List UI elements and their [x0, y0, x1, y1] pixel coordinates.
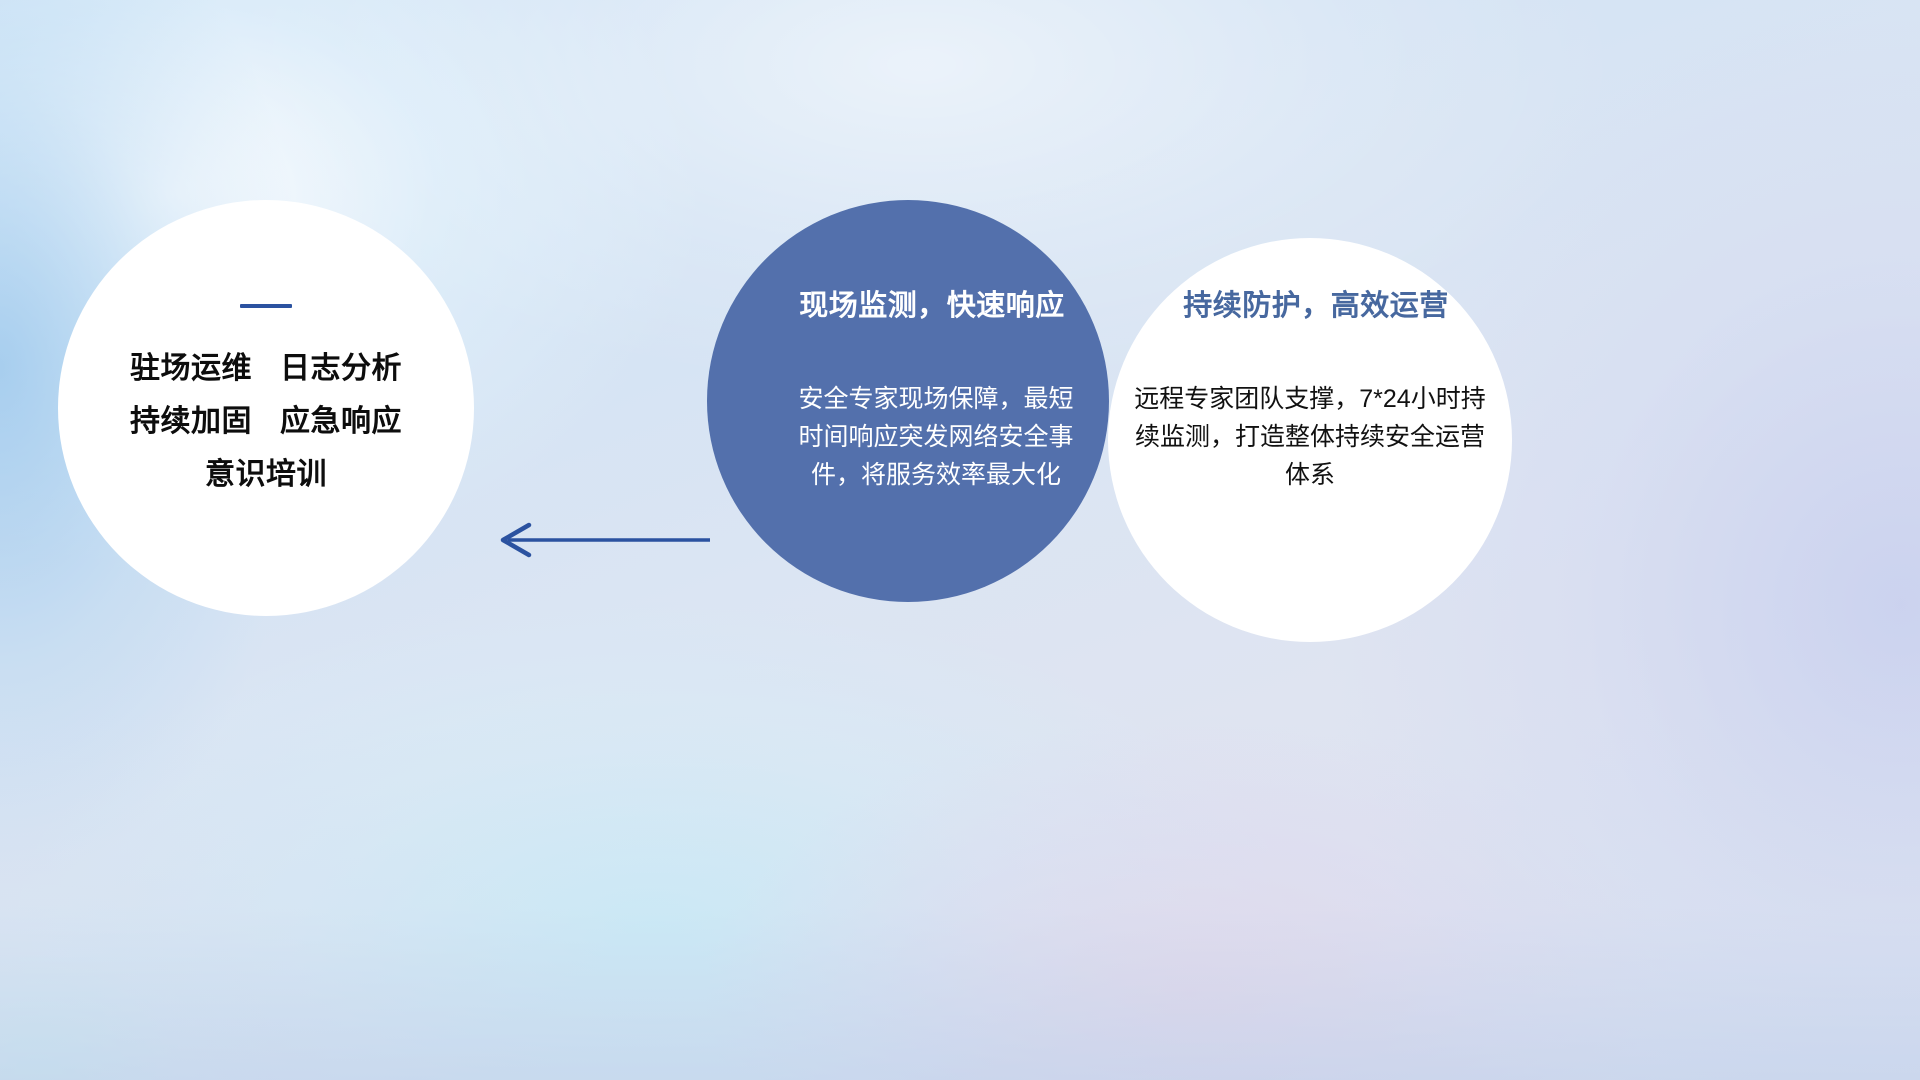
- capability-circle-left[interactable]: 驻场运维 日志分析 持续加固 应急响应 意识培训: [58, 200, 474, 616]
- capability-row: 驻场运维 日志分析: [130, 352, 402, 385]
- service-circle-remote-title: 持续防护，高效运营: [1183, 282, 1449, 324]
- service-circle-onsite[interactable]: 现场监测，快速响应 安全专家现场保障，最短时间响应突发网络安全事件，将服务效率最…: [707, 200, 1109, 602]
- capability-item[interactable]: 日志分析: [280, 352, 402, 385]
- capability-item[interactable]: 持续加固: [130, 405, 252, 438]
- capability-item[interactable]: 驻场运维: [130, 352, 252, 385]
- capability-item[interactable]: 意识培训: [205, 458, 327, 491]
- capability-item[interactable]: 应急响应: [280, 405, 402, 438]
- slide-canvas: 驻场运维 日志分析 持续加固 应急响应 意识培训 现场监测，快速响应 安全专家现…: [0, 0, 1920, 1080]
- capability-list: 驻场运维 日志分析 持续加固 应急响应 意识培训: [130, 352, 402, 491]
- capability-row: 持续加固 应急响应: [130, 405, 402, 438]
- divider-line: [240, 304, 292, 308]
- service-circle-onsite-body: 安全专家现场保障，最短时间响应突发网络安全事件，将服务效率最大化: [798, 380, 1074, 494]
- service-circle-remote[interactable]: 持续防护，高效运营 远程专家团队支撑，7*24小时持续监测，打造整体持续安全运营…: [1108, 238, 1512, 642]
- capability-row: 意识培训: [205, 458, 327, 491]
- service-circle-onsite-title: 现场监测，快速响应: [799, 282, 1065, 324]
- service-circle-remote-body: 远程专家团队支撑，7*24小时持续监测，打造整体持续安全运营体系: [1134, 380, 1486, 494]
- flow-arrow-left-icon: [492, 514, 712, 566]
